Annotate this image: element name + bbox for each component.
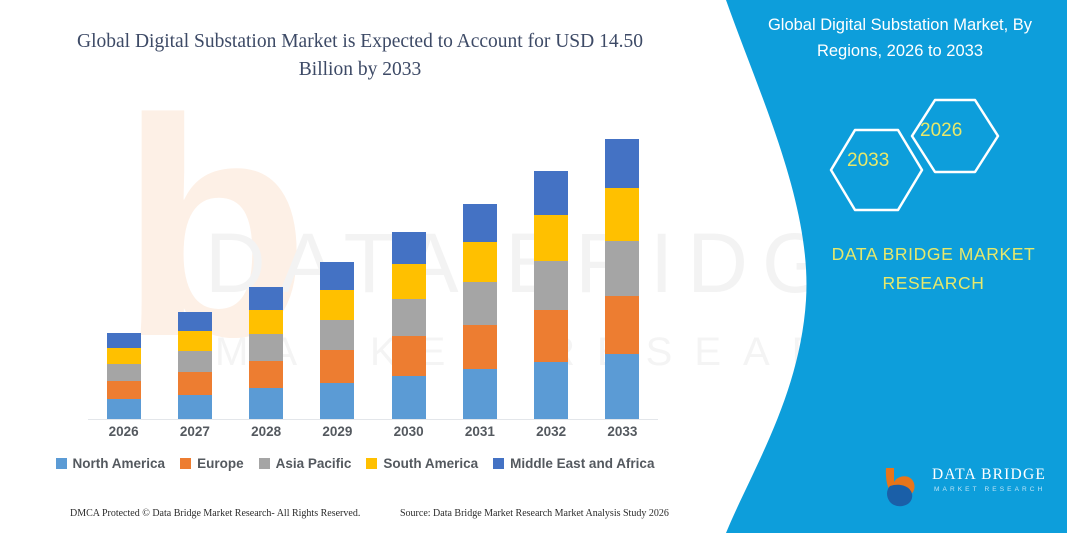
bar-segment [463,369,497,419]
bar-segment [534,310,568,362]
bar-segment [392,299,426,336]
legend-swatch-icon [366,458,377,469]
logo-tagline: MARKET RESEARCH [934,486,1045,493]
footer-copyright: DMCA Protected © Data Bridge Market Rese… [70,508,360,519]
bar-segment [463,242,497,282]
brand-line-2: RESEARCH [882,273,984,293]
hexagon-2033-label: 2033 [847,150,889,172]
bar-segment [107,399,141,419]
bar-segment [107,333,141,348]
brand-name: DATA BRIDGE MARKET RESEARCH [800,240,1067,298]
bar-2027 [178,312,212,419]
x-axis-label-2033: 2033 [592,424,652,439]
hexagon-2026-label: 2026 [920,120,962,142]
x-axis-labels: 20262027202820292030203120322033 [88,424,658,444]
bar-segment [320,262,354,290]
bar-segment [178,331,212,351]
bar-segment [463,204,497,242]
stacked-bar-chart [88,112,658,419]
bar-2030 [392,232,426,419]
bar-segment [392,376,426,419]
bar-segment [107,381,141,399]
bar-segment [320,320,354,351]
x-axis-label-2026: 2026 [94,424,154,439]
x-axis-label-2029: 2029 [307,424,367,439]
bar-segment [249,310,283,334]
logo-wordmark: DATA BRIDGE [932,466,1046,484]
bar-segment [463,282,497,324]
x-axis-label-2030: 2030 [379,424,439,439]
bar-segment [178,372,212,394]
bar-segment [605,139,639,189]
bar-segment [392,336,426,375]
bar-segment [320,290,354,320]
bar-2026 [107,333,141,419]
logo-mark-icon [880,462,930,512]
bar-segment [605,354,639,419]
bar-segment [107,348,141,364]
chart-column: Global Digital Substation Market is Expe… [0,0,710,533]
data-bridge-logo: DATA BRIDGE MARKET RESEARCH [880,462,1060,514]
bar-segment [249,388,283,419]
legend-swatch-icon [493,458,504,469]
chart-legend: North AmericaEuropeAsia PacificSouth Ame… [0,456,710,471]
bar-segment [178,351,212,372]
bar-segment [392,264,426,299]
brand-line-1: DATA BRIDGE MARKET [832,244,1036,264]
bar-segment [249,287,283,310]
bar-segment [534,171,568,214]
chart-title: Global Digital Substation Market is Expe… [50,28,670,84]
panel-title: Global Digital Substation Market, By Reg… [750,12,1050,64]
bar-segment [320,350,354,383]
hexagon-badges: 2033 2026 [820,92,1020,217]
bar-segment [249,361,283,389]
legend-item[interactable]: South America [366,456,478,471]
bar-2029 [320,262,354,419]
legend-swatch-icon [180,458,191,469]
bar-2028 [249,287,283,419]
legend-item[interactable]: Europe [180,456,244,471]
bar-segment [392,232,426,265]
infographic-canvas: b DATA BRIDGE MARKET RESEARCH Global Dig… [0,0,1067,533]
x-axis-label-2032: 2032 [521,424,581,439]
footer-source: Source: Data Bridge Market Research Mark… [400,508,669,519]
legend-label: Middle East and Africa [510,456,654,471]
bar-2033 [605,139,639,420]
bar-segment [178,395,212,419]
bar-2032 [534,171,568,419]
bar-segment [605,241,639,296]
x-axis-line [88,419,658,420]
bar-segment [605,296,639,354]
bar-segment [463,325,497,369]
bar-segment [249,334,283,360]
legend-label: South America [383,456,478,471]
bar-segment [320,383,354,419]
x-axis-label-2031: 2031 [450,424,510,439]
bar-segment [534,362,568,419]
legend-item[interactable]: North America [56,456,166,471]
legend-swatch-icon [259,458,270,469]
bar-segment [534,215,568,262]
bar-segment [107,364,141,381]
bar-2031 [463,204,497,419]
x-axis-label-2027: 2027 [165,424,225,439]
legend-item[interactable]: Middle East and Africa [493,456,654,471]
bar-segment [178,312,212,331]
legend-label: North America [73,456,166,471]
footer: DMCA Protected © Data Bridge Market Rese… [0,508,710,526]
bar-segment [534,261,568,310]
legend-item[interactable]: Asia Pacific [259,456,352,471]
x-axis-label-2028: 2028 [236,424,296,439]
bar-segment [605,188,639,241]
legend-swatch-icon [56,458,67,469]
legend-label: Asia Pacific [276,456,352,471]
legend-label: Europe [197,456,244,471]
